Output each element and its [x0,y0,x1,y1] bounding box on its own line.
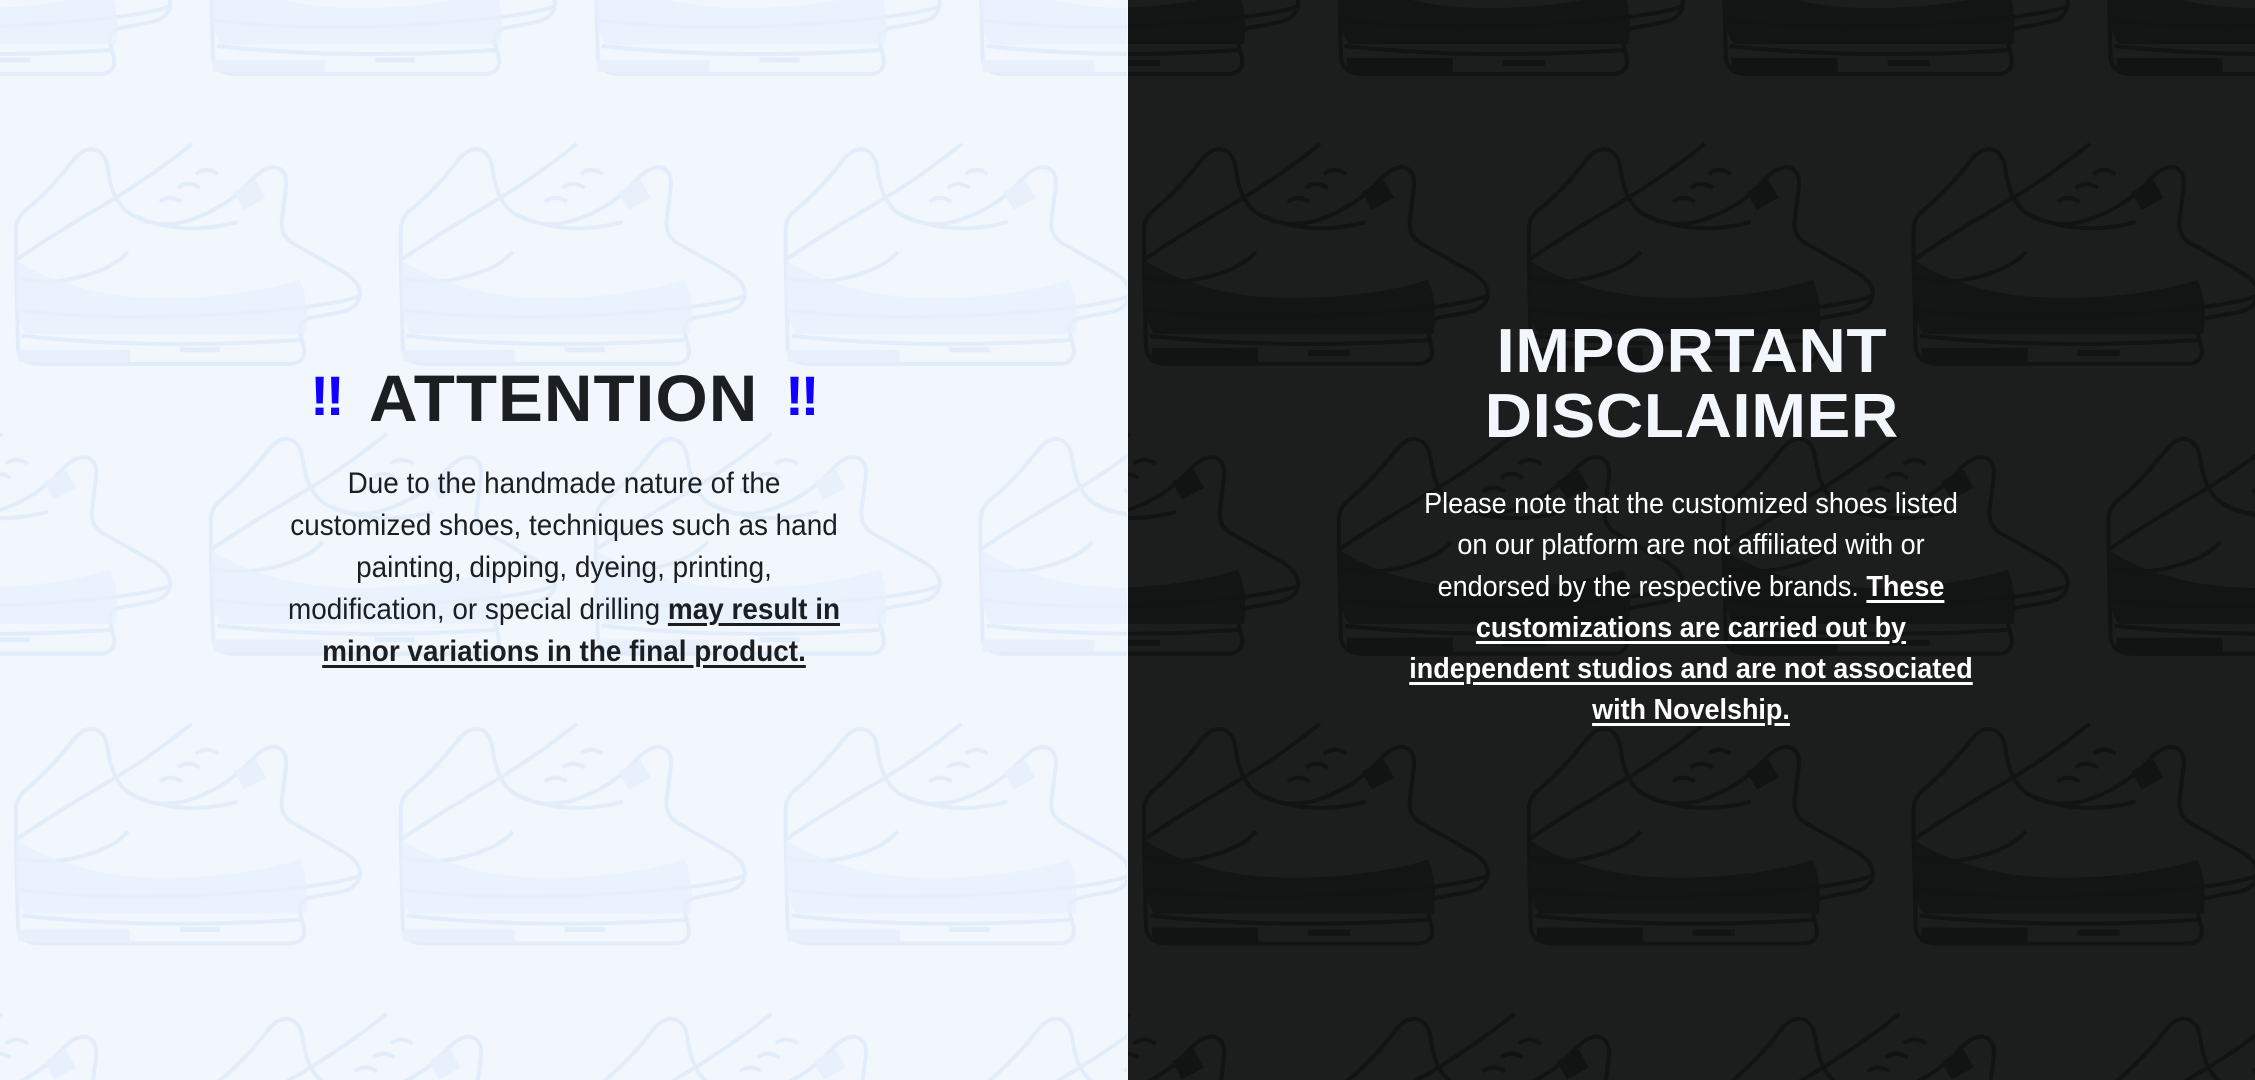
attention-content: ‼ ATTENTION ‼ Due to the handmade nature… [0,365,1128,673]
disclaimer-body: Please note that the customized shoes li… [1407,484,1976,731]
double-exclamation-right-icon: ‼ [785,367,817,425]
attention-panel: ‼ ATTENTION ‼ Due to the handmade nature… [0,0,1128,1080]
attention-headline-word: ATTENTION [369,365,758,433]
double-exclamation-left-icon: ‼ [310,367,342,425]
disclaimer-panel: IMPORTANT DISCLAIMER Please note that th… [1128,0,2255,1080]
disclaimer-content: IMPORTANT DISCLAIMER Please note that th… [1128,319,2255,731]
attention-headline: ‼ ATTENTION ‼ [30,365,1098,433]
disclaimer-headline: IMPORTANT DISCLAIMER [1136,319,2246,450]
attention-body: Due to the handmade nature of the custom… [275,463,852,673]
disclaimer-headline-line-1: IMPORTANT [1136,319,2246,385]
disclaimer-headline-line-2: DISCLAIMER [1136,384,2246,450]
customization-notice-banner: ‼ ATTENTION ‼ Due to the handmade nature… [0,0,2255,1080]
